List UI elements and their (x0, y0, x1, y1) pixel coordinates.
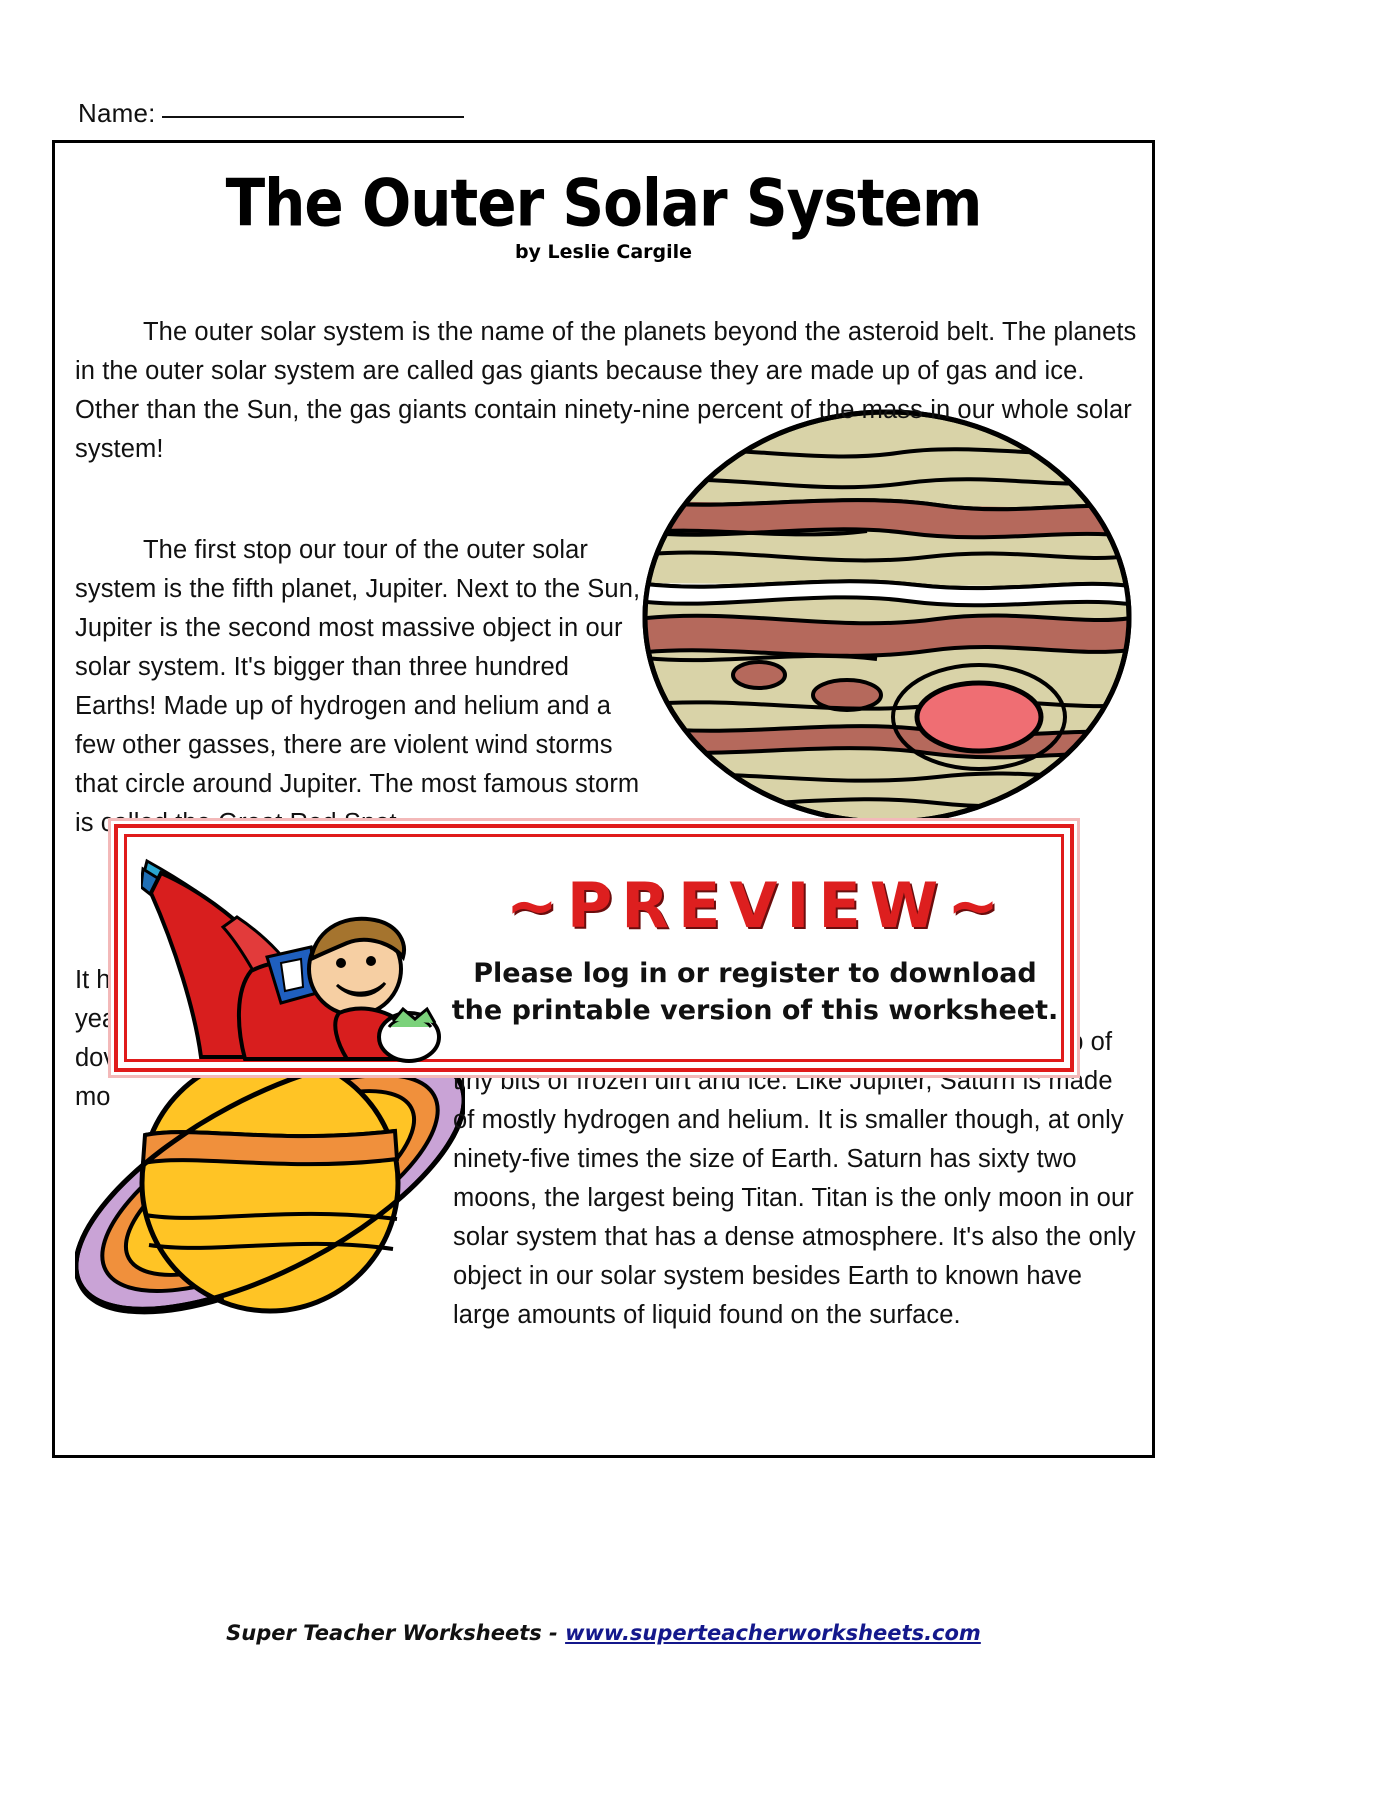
worksheet-body: The Outer Solar System by Leslie Cargile (52, 140, 1155, 1458)
superhero-svg (141, 851, 471, 1063)
name-blank-line (162, 116, 464, 118)
preview-message: Please log in or register to download th… (445, 955, 1065, 1029)
preview-word: ~PREVIEW~ (457, 869, 1057, 942)
name-label: Name: (78, 98, 156, 128)
footer-url[interactable]: www.superteacherworksheets.com (565, 1621, 981, 1645)
worksheet-page: Name: The Outer Solar System by Leslie C… (0, 0, 1391, 1800)
preview-overlay: ~PREVIEW~ Please log in or register to d… (114, 824, 1074, 1072)
page-title: The Outer Solar System (55, 165, 1152, 241)
paragraph-intro: The outer solar system is the name of th… (75, 313, 1137, 469)
footer-brand: Super Teacher Worksheets - (226, 1621, 565, 1645)
name-field: Name: (78, 98, 464, 129)
footer-credit: Super Teacher Worksheets - www.superteac… (55, 1621, 1152, 1645)
preview-message-line1: Please log in or register to download (445, 955, 1065, 992)
preview-message-line2: the printable version of this worksheet. (445, 992, 1065, 1029)
author-byline: by Leslie Cargile (55, 241, 1152, 263)
preview-overlay-inner: ~PREVIEW~ Please log in or register to d… (124, 834, 1064, 1062)
paragraph-jupiter-text: The first stop our tour of the outer sol… (75, 536, 640, 837)
paragraph-jupiter: The first stop our tour of the outer sol… (75, 531, 647, 843)
paragraph-saturn-text: e sixth of beautiful rings that circle i… (453, 1028, 1136, 1329)
flying-superhero-mascot (141, 851, 471, 1063)
paragraph-intro-text: The outer solar system is the name of th… (75, 318, 1136, 463)
